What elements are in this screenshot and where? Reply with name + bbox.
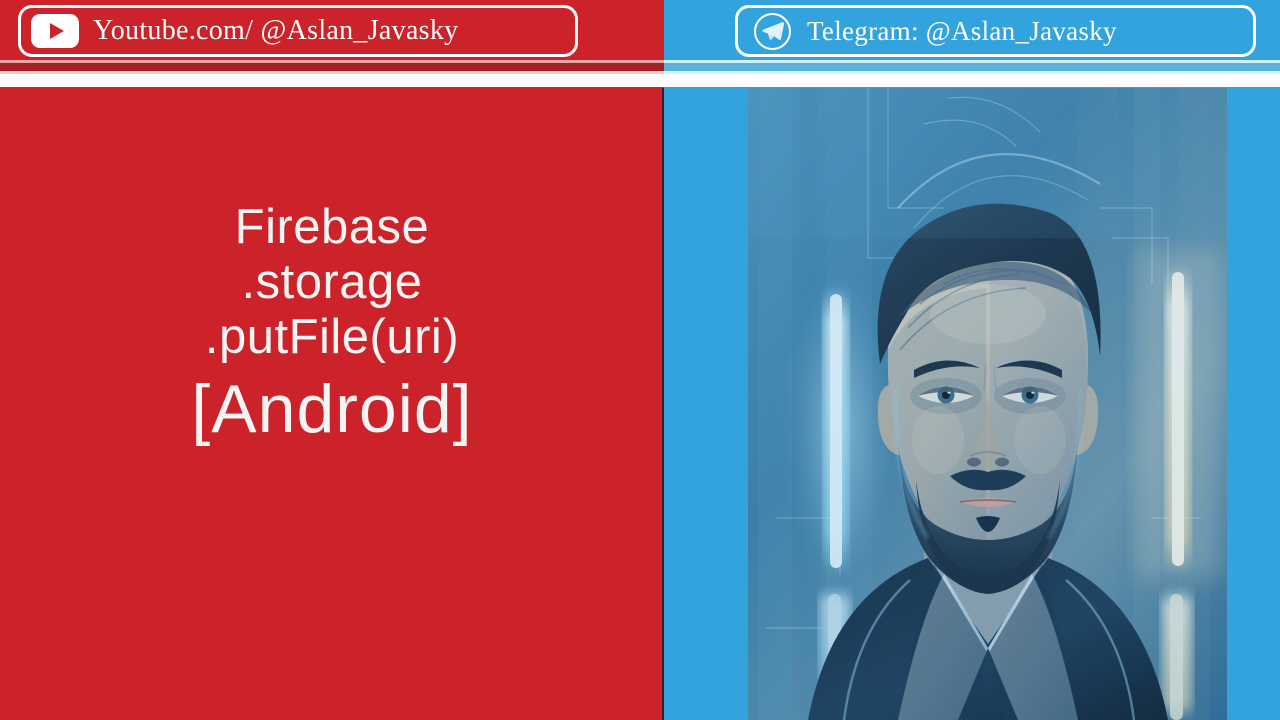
- title-platform-tag: [Android]: [0, 371, 664, 447]
- title-line-3: .putFile(uri): [0, 310, 664, 365]
- portrait-artwork: [748, 88, 1227, 720]
- title-line-2: .storage: [0, 255, 664, 310]
- slide-title-block: Firebase .storage .putFile(uri) [Android…: [0, 200, 664, 447]
- telegram-banner-label: Telegram: @Aslan_Javasky: [807, 16, 1117, 47]
- header-stripe-band: [0, 60, 1280, 88]
- telegram-banner[interactable]: Telegram: @Aslan_Javasky: [735, 5, 1256, 57]
- slide-root: Youtube.com/ @Aslan_Javasky Telegram: @A…: [0, 0, 1280, 720]
- youtube-banner-label: Youtube.com/ @Aslan_Javasky: [93, 15, 458, 47]
- stripe-2: [0, 63, 1280, 71]
- youtube-play-icon: [31, 14, 79, 48]
- youtube-banner[interactable]: Youtube.com/ @Aslan_Javasky: [18, 5, 578, 57]
- telegram-paper-plane-icon: [754, 13, 791, 50]
- stripe-4: [0, 74, 1280, 87]
- title-line-1: Firebase: [0, 200, 664, 255]
- header-bar: Youtube.com/ @Aslan_Javasky Telegram: @A…: [0, 0, 1280, 88]
